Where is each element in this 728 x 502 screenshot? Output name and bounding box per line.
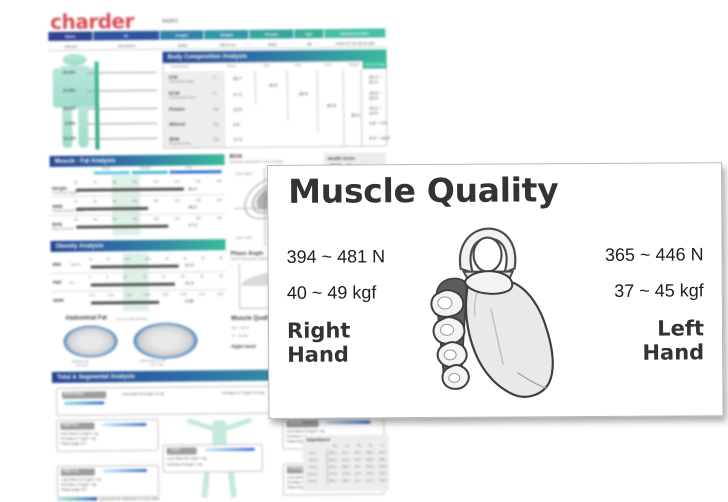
ob-bmi-unit: (kg/m²)	[71, 263, 81, 267]
ob-whr-ticks: 0.700.750.800.850.900.951.001.05	[89, 292, 223, 297]
bc-row-mineral-normal: 2.6 ~ 4.5	[369, 120, 387, 125]
ob-bmi-bar	[91, 265, 179, 269]
bc-row-mineral-value: 4.0	[233, 122, 239, 127]
mf-bfm-value: 17.2	[188, 222, 197, 227]
impedance-values-1khz: 330.1317.728.3288.3293.4	[329, 450, 387, 455]
whole-body-label: Whole Body	[64, 392, 84, 396]
impedance-columns: RA LA TR RL LL	[333, 443, 385, 448]
impedance-values-100khz: 274.8271.823.9242.6243.2	[329, 471, 387, 476]
id-header-weight: Weight	[205, 30, 249, 39]
pct-mineral: 5.0%	[65, 121, 75, 126]
right-leg-lean: Lean Mass 10.0 kg/m ≈ kg	[61, 477, 101, 481]
mq-mini-right-newtons: 394 ~ 481 N	[231, 326, 249, 330]
bc-row-icw-unit: (L)	[213, 75, 217, 79]
pct-icw: 35.9%	[63, 70, 76, 75]
whole-body-fat: Fat Mass 17.2 kg/m 14.8 kg	[222, 391, 264, 395]
mq-mini-right-hand: Right Hand	[232, 344, 256, 349]
legend-under-label: Under	[102, 166, 111, 170]
bc-col-components: Components	[171, 65, 189, 69]
ob-pbf-bar	[91, 283, 175, 286]
ob-whr-value: 0.88	[185, 298, 194, 303]
impedance-col-ra: RA	[333, 444, 337, 448]
id-value-height: Asian	[160, 40, 205, 48]
legend-over-label: Over	[186, 165, 193, 169]
impedance-row-20khz-freq: 20kHz	[309, 458, 318, 462]
mf-bfm-bar	[76, 225, 168, 229]
phase-angle-y-axis	[239, 264, 240, 308]
charder-model-label: MA801	[162, 19, 178, 25]
legend-normal-label: Normal	[140, 166, 150, 170]
impedance-title: Impedance	[307, 437, 331, 442]
mq-mini-right-kgf: 40 ~ 49 kgf	[231, 334, 247, 338]
left-leg-label: Left Leg	[289, 466, 302, 470]
segmental-footnote: represents the distribution of Lean Mass	[99, 497, 159, 502]
health-score-label: Health Score	[328, 156, 356, 161]
impedance-col-tr: TR	[357, 444, 361, 448]
biva-label-more-water: More Water	[236, 172, 253, 176]
bc-col-weight: Weight	[349, 63, 359, 67]
mf-smm-ticks: 708090100110120130140	[74, 198, 222, 204]
bc-row-bfm-sub: Body Fat Mass	[169, 141, 190, 145]
ob-pbf-value: 21.5	[185, 280, 194, 285]
mf-weight-bar	[76, 188, 184, 192]
bc-row-bfm-normal: 8.0 ~ 16.0	[369, 135, 389, 140]
mf-bfm-sub: Body Fat Mass	[52, 227, 73, 231]
abdominal-fat-subtitle: (L4-L5 cross section)	[117, 317, 147, 321]
trunk-label: Trunk	[171, 448, 180, 452]
bc-row-protein-unit: (kg)	[213, 107, 219, 111]
right-arm-lean: Lean Mass 3.6 kg/m ≈ kg	[60, 431, 98, 435]
impedance-values-200khz: 259.2256.422.1231.3230.4	[329, 478, 387, 483]
right-arm-phase: Phase Angle 5.4°	[61, 442, 87, 446]
ob-pbf-ticks: 05101520253035	[89, 274, 223, 279]
id-value-date: 2020-07-02 09:41 AM	[324, 38, 387, 47]
bc-row-icw-value: 28.7	[233, 76, 242, 81]
ob-pbf-label: PBF	[53, 280, 62, 285]
subcutaneous-fat-value: 147.1 cm²	[150, 363, 164, 367]
ob-bmi-label: BMI	[53, 262, 61, 267]
id-value-weight: 182.5 cm	[205, 40, 250, 48]
pct-line-ecw	[87, 90, 157, 91]
ob-bmi-ticks: 101518.525.030354045	[89, 256, 223, 261]
id-value-age: 38	[295, 39, 324, 47]
bc-row-bfm-value: 17.2	[233, 137, 242, 142]
impedance-row-100khz-freq: 100kHz	[307, 472, 318, 476]
ob-pbf-unit: (%)	[69, 281, 74, 285]
bc-row-ecw-sub: Extracellular Water	[169, 95, 196, 99]
right-leg-label: Right Leg	[63, 469, 79, 473]
id-header-age: Age	[294, 29, 323, 38]
bc-col-normal: Normal Range	[365, 62, 386, 66]
left-arm-label: Left Arm	[288, 420, 302, 424]
visceral-fat-value: 78.4 cm²	[76, 364, 88, 368]
id-value-name: Steven	[48, 42, 93, 50]
bc-col-values: Values	[227, 64, 237, 68]
id-header-gender: Gender	[250, 29, 294, 38]
id-header-height: Height	[160, 30, 204, 39]
id-header-name: Name	[48, 32, 92, 41]
impedance-values-50khz: 292.1286.124.7253.3253.4	[329, 464, 387, 469]
id-value-id: 20190201	[93, 41, 160, 50]
impedance-row-200khz-freq: 200kHz	[307, 479, 318, 483]
silhouette-accent-bar	[95, 61, 100, 149]
mf-smm-value: 36.2	[188, 204, 197, 209]
mf-weight-ticks: 557085100115130145160	[74, 179, 222, 185]
impedance-col-rl: RL	[369, 444, 373, 448]
right-arm-label: Right Arm	[62, 423, 78, 427]
bc-row-protein-label: Protein	[169, 107, 185, 112]
bc-col-tbw: TBW	[263, 64, 270, 68]
segmental-legend-bar	[57, 497, 97, 500]
right-arm-bar	[102, 423, 146, 426]
pct-line-bfm	[87, 138, 157, 139]
card-title: Muscle Quality	[288, 170, 558, 211]
ob-whr-label: WHR	[53, 298, 64, 303]
hand-grip-dynamometer-icon	[416, 222, 577, 413]
right-leg-bar	[103, 469, 147, 472]
mf-weight-sub: Total Body Weight	[52, 191, 78, 195]
bc-col-ffm: FFM	[325, 63, 332, 67]
trunk-bar	[205, 448, 255, 451]
pct-bfm: 21.5%	[63, 136, 76, 141]
abdominal-fat-title: Abdominal Fat	[65, 315, 107, 321]
impedance-row-50khz-freq: 50kHz	[309, 465, 318, 469]
id-value-gender: Male	[250, 39, 295, 47]
right-arm-fat: Fat Mass 0.7 kg/m ≈ kg	[61, 437, 96, 441]
bc-row-ecw-normal: 15.6 ~ 19.0	[369, 90, 391, 100]
section-header-obesity: Obesity Analysis	[50, 239, 225, 252]
id-header-date: Measured Date	[324, 28, 385, 38]
id-header-id: ID	[93, 31, 159, 41]
bc-merged-tbw: 46.0	[269, 83, 278, 88]
right-leg-fat: Fat Mass 2.6 kg/m ≈ kg	[61, 483, 96, 487]
bc-row-ecw-unit: (L)	[213, 91, 217, 95]
legend-over-pill	[170, 170, 222, 174]
ob-bmi-value: 24.0	[185, 262, 194, 267]
bc-row-ecw-value: 17.3	[233, 92, 242, 97]
impedance-row-1khz-freq: 1kHz	[309, 451, 316, 455]
muscle-quality-magnifier-card: Muscle Quality 394 ~ 481 N 40 ~ 49 kgf R…	[267, 162, 724, 419]
segmental-body-arm-left	[222, 417, 252, 431]
silhouette-leg-right	[78, 106, 88, 148]
pct-line-mineral	[87, 123, 157, 124]
section-header-muscle-fat: Muscle - Fat Analysis	[50, 154, 225, 167]
visceral-fat-image	[63, 325, 117, 358]
bc-row-protein-value: 12.8	[233, 107, 242, 112]
whole-body-lean: Lean Mass 59.8 kg/m 41 kg	[122, 392, 164, 396]
left-arm-bar	[326, 421, 370, 424]
bc-row-mineral-unit: (kg)	[213, 122, 219, 126]
bc-row-mineral-label: Mineral	[169, 122, 185, 127]
biva-label-more-cells: More Cells	[236, 236, 251, 240]
bc-merged-ffm: 62.8	[327, 103, 336, 108]
bc-merged-slm: 58.8	[299, 91, 308, 96]
pct-protein: 16.0%	[63, 106, 76, 111]
trunk-fat: Fat Mass 9.8 kg/m ≈ kg	[167, 462, 202, 466]
segmental-body-arm-right	[186, 418, 216, 432]
pct-line-protein	[87, 108, 157, 109]
subcutaneous-fat-image	[133, 322, 197, 359]
mf-bfm-ticks: 406080100160220280340	[74, 216, 222, 222]
impedance-col-ll: LL	[381, 443, 385, 447]
right-leg-phase: Phase Angle 5.8°	[61, 488, 87, 492]
pct-line-icw	[87, 72, 157, 73]
bc-merged-weight: 80.0	[351, 113, 360, 118]
silhouette-leg-left	[62, 106, 72, 148]
impedance-values-20khz: 308.3301.626.5268.5266.1	[329, 457, 387, 462]
bc-col-slm: SLM	[295, 63, 302, 67]
left-arm-lean: Lean Mass 3.6 kg/m ≈ kg	[286, 429, 324, 433]
mf-weight-value: 80.0	[188, 186, 197, 191]
bc-row-icw-normal: 25.4 ~ 31.0	[369, 74, 391, 84]
impedance-col-la: LA	[345, 444, 349, 448]
silhouette-head	[63, 54, 87, 66]
trunk-lean: Lean Mass 28.2 kg/m ≈ kg	[167, 456, 207, 460]
silhouette-arm-left	[53, 68, 60, 108]
legend-normal-pill	[132, 171, 168, 175]
pct-ecw: 21.6%	[63, 88, 76, 93]
bc-row-protein-normal: 10.2 ~ 14.0	[369, 105, 391, 115]
bc-row-bfm-unit: (kg)	[213, 137, 219, 141]
bc-row-icw-sub: Intracellular Water	[169, 79, 195, 83]
biva-subtitle: Bioelectric Impedance Vector Analysis	[230, 160, 284, 165]
whole-body-bar	[64, 401, 104, 404]
